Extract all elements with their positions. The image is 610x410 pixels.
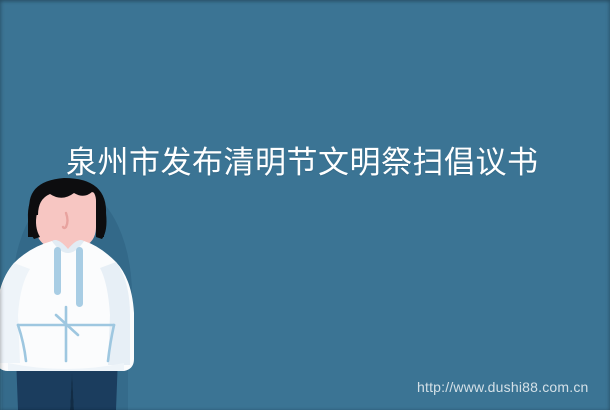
headline-text: 泉州市发布清明节文明祭扫倡议书 bbox=[66, 143, 546, 183]
person-illustration bbox=[0, 175, 150, 410]
watermark-url: http://www.dushi88.com.cn bbox=[417, 378, 589, 396]
article-thumbnail-card: 泉州市发布清明节文明祭扫倡议书 http://www.dushi88.com.c… bbox=[0, 0, 610, 410]
